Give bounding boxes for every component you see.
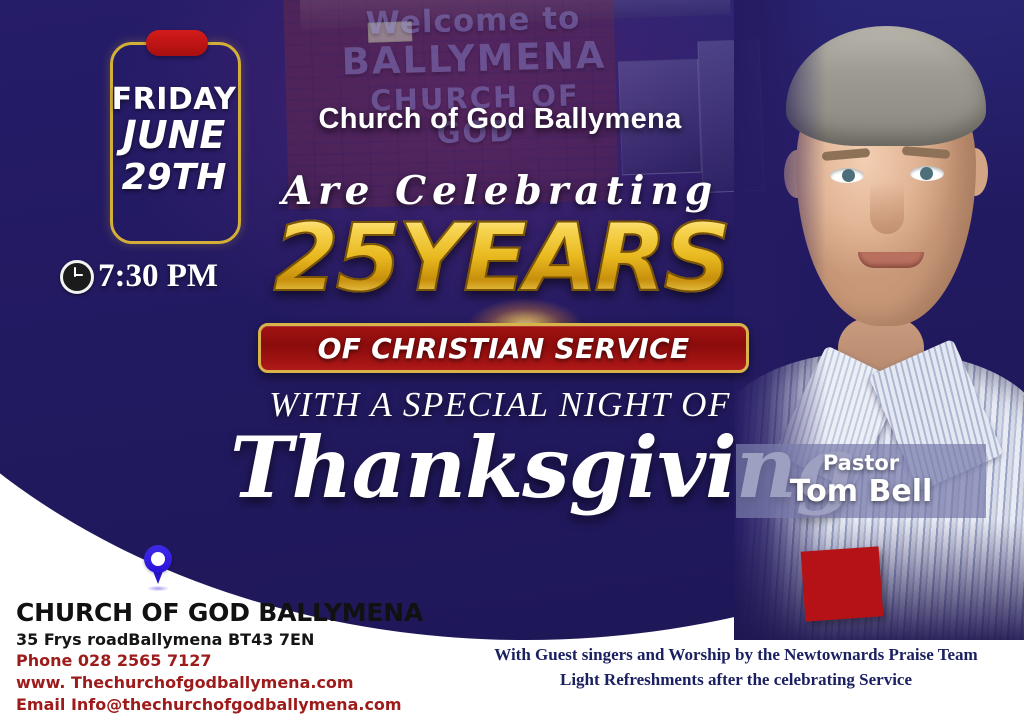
guest-note-line1: With Guest singers and Worship by the Ne…: [452, 643, 1020, 668]
footer-church-name: CHURCH OF GOD BALLYMENA: [16, 598, 446, 629]
map-pin-shadow: [142, 585, 174, 592]
church-name-title: Church of God Ballymena: [250, 103, 750, 136]
date-day-of-week: FRIDAY: [104, 84, 244, 116]
date-badge: FRIDAY JUNE 29TH: [104, 84, 244, 199]
red-rectangle-accent: [801, 546, 884, 621]
date-month: JUNE: [104, 116, 244, 156]
event-poster: Welcome to BALLYMENA CHURCH OF GOD: [0, 0, 1024, 722]
map-pin-head: [144, 545, 172, 573]
pastor-mouth: [858, 252, 924, 268]
guest-note-line2: Light Refreshments after the celebrating…: [452, 668, 1020, 693]
event-time: 7:30 PM: [60, 258, 260, 295]
footer-email[interactable]: Email Info@thechurchofgodballymena.com: [16, 694, 446, 716]
pastor-pupil-left: [842, 169, 855, 182]
service-banner: OF CHRISTIAN SERVICE: [258, 323, 749, 373]
pastor-pupil-right: [920, 167, 933, 180]
pastor-name: Tom Bell: [790, 475, 933, 510]
pastor-photo: [734, 0, 1024, 640]
date-day-number: 29TH: [104, 156, 244, 199]
service-banner-label: OF CHRISTIAN SERVICE: [318, 332, 690, 365]
map-pin-icon: [138, 545, 178, 597]
pastor-nameplate: Pastor Tom Bell: [736, 444, 986, 518]
footer-address: 35 Frys roadBallymena BT43 7EN: [16, 629, 446, 650]
pastor-role: Pastor: [823, 452, 899, 475]
clock-icon: [60, 260, 94, 294]
red-pill-accent: [146, 30, 208, 56]
event-time-value: 7:30 PM: [98, 258, 218, 295]
years-headline: 25YEARS: [243, 212, 759, 306]
footer-website[interactable]: www. Thechurchofgodballymena.com: [16, 672, 446, 694]
background-sign-plaque: [368, 21, 413, 43]
guest-note: With Guest singers and Worship by the Ne…: [452, 643, 1020, 692]
footer-contact: CHURCH OF GOD BALLYMENA 35 Frys roadBall…: [16, 598, 446, 716]
thanksgiving-script: Thanksgiving: [230, 420, 750, 517]
footer-phone: Phone 028 2565 7127: [16, 650, 446, 672]
pastor-nose: [870, 182, 904, 234]
